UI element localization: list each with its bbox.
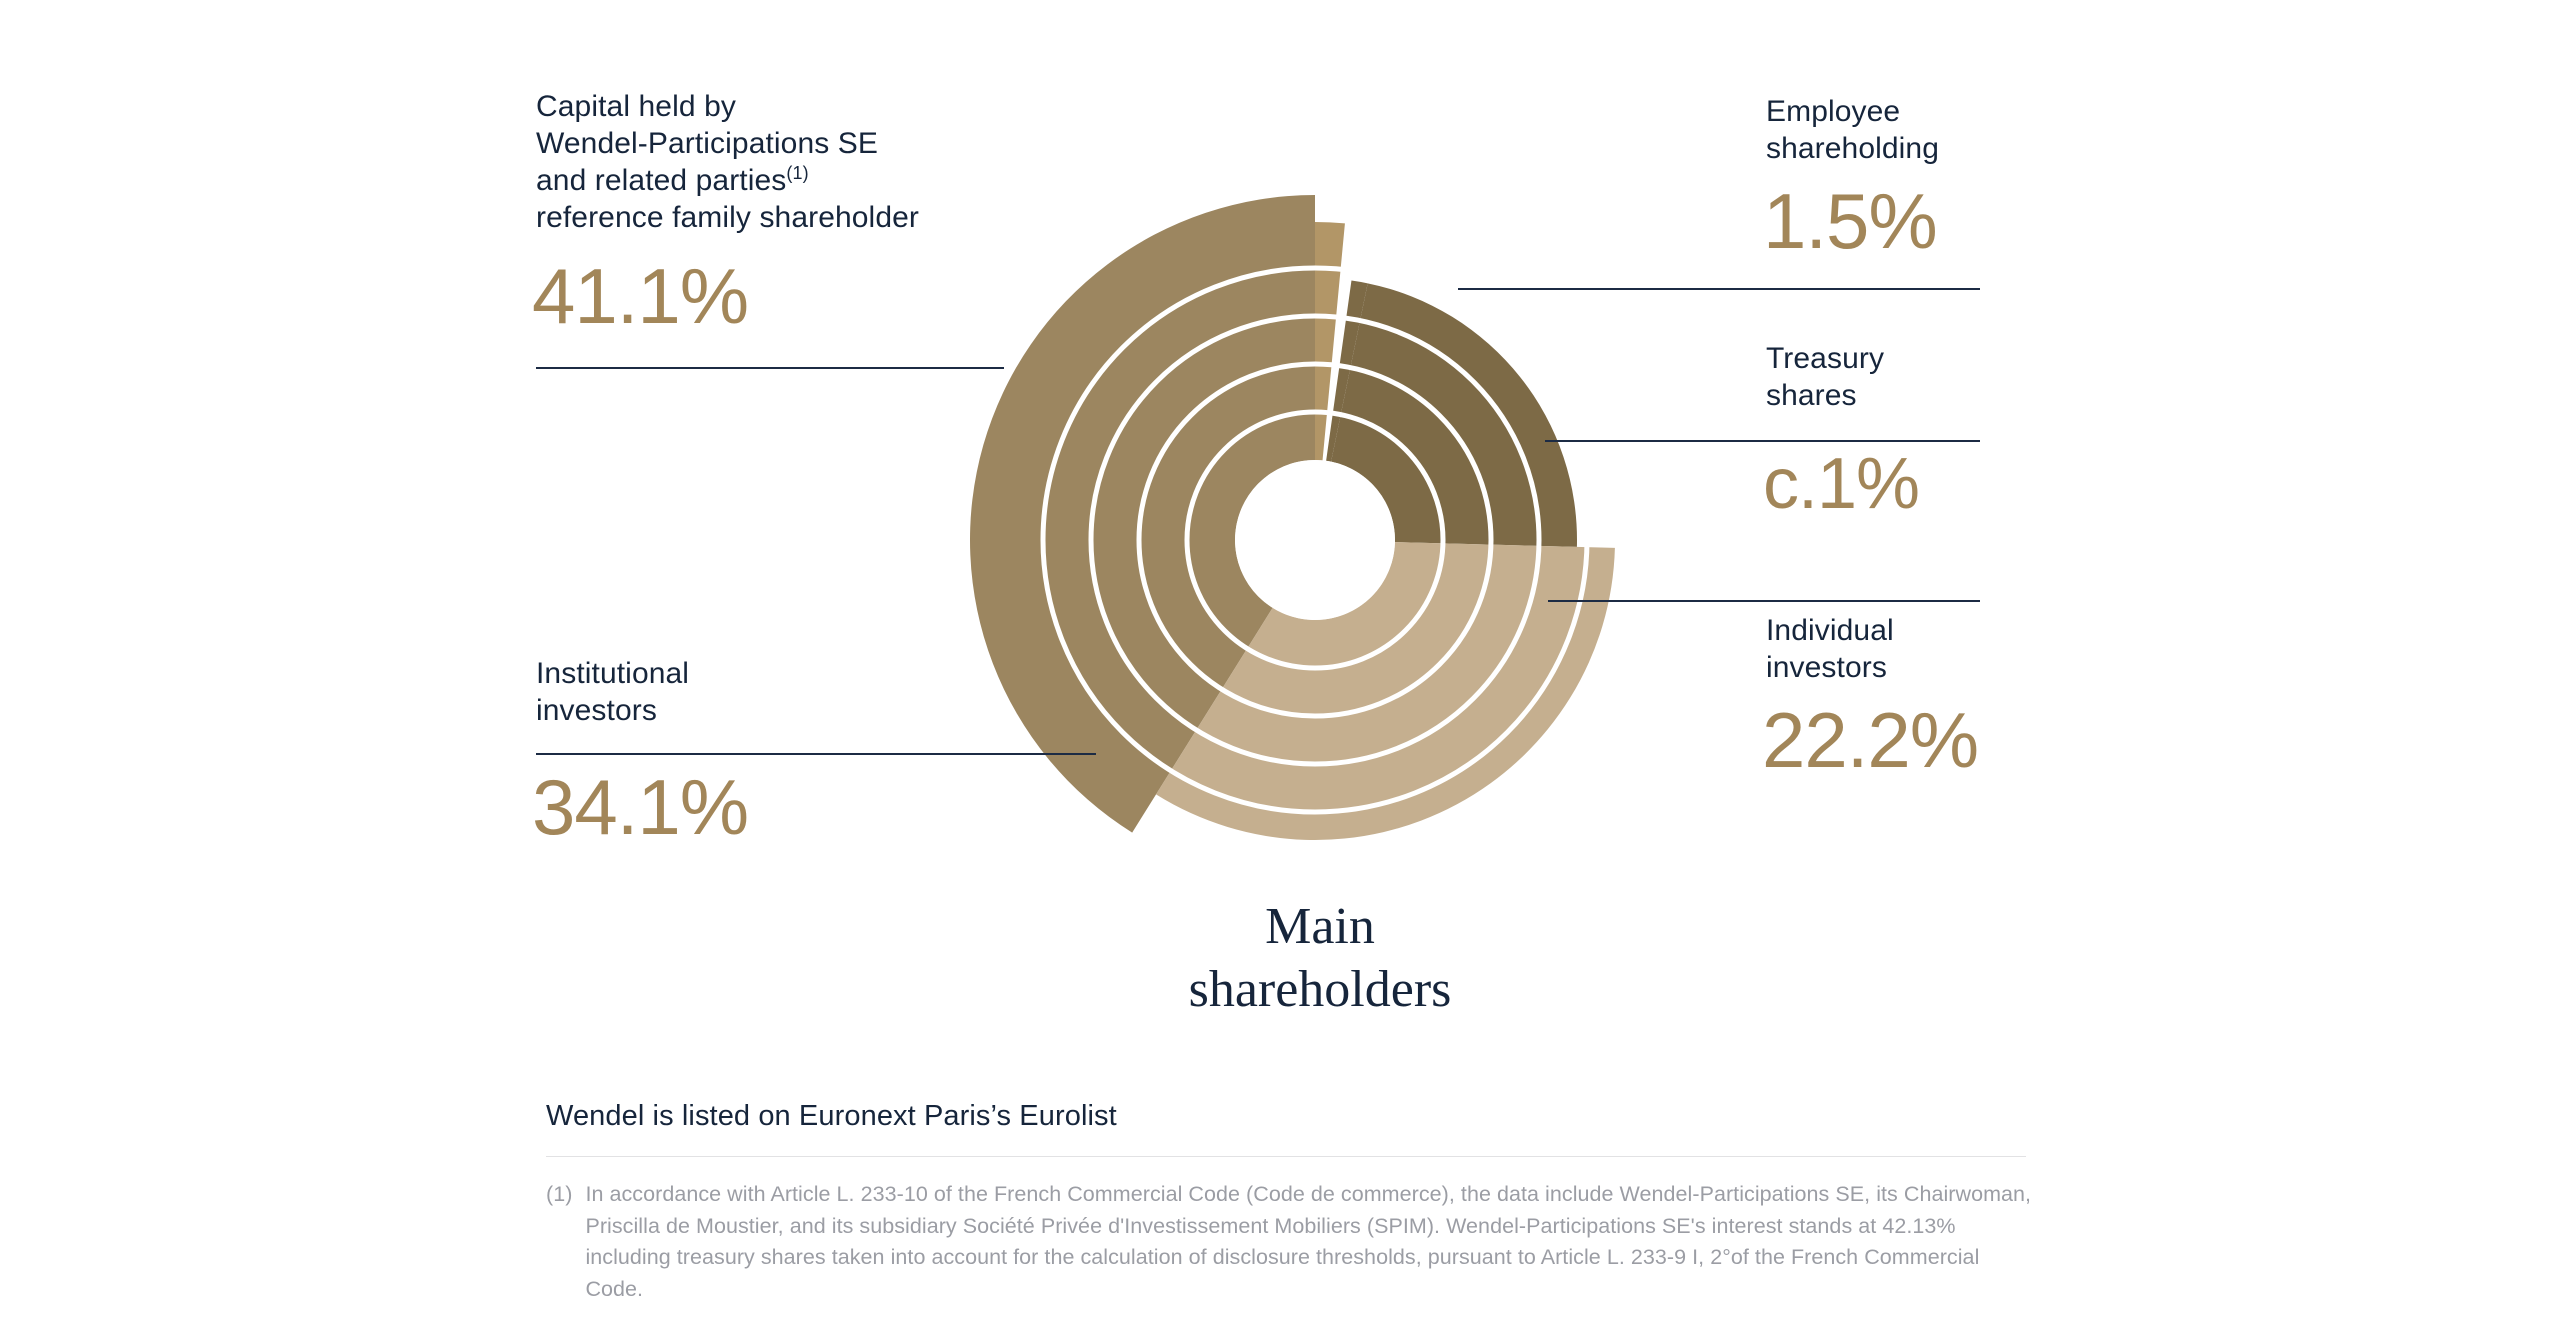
footnote-marker: (1) (546, 1179, 572, 1305)
leader-line-family (536, 367, 1004, 369)
callout-employee-label: Employee shareholding (1766, 93, 2186, 167)
callout-institutional-investors: Institutional investors 34.1% (536, 655, 1096, 849)
listing-note: Wendel is listed on Euronext Paris’s Eur… (546, 1098, 2036, 1134)
callout-treasury-shares: Treasury shares c.1% (1766, 340, 2186, 526)
footnote-body: In accordance with Article L. 233-10 of … (585, 1179, 2036, 1305)
footnote-ref-1: (1) (786, 163, 808, 183)
callout-family-value: 41.1% (532, 254, 1176, 338)
footnote-1: (1) In accordance with Article L. 233-10… (546, 1179, 2036, 1305)
callout-individual-investors: Individual investors 22.2% (1766, 612, 2226, 782)
leader-line-employee (1458, 288, 1980, 290)
callout-family-shareholder: Capital held byWendel-Participations SEa… (536, 88, 1176, 338)
callout-institutional-value: 34.1% (532, 765, 1096, 849)
callout-institutional-label: Institutional investors (536, 655, 1096, 729)
callout-family-label: Capital held byWendel-Participations SEa… (536, 88, 1176, 236)
donut-center-hole (1235, 460, 1395, 620)
callout-individual-value: 22.2% (1762, 698, 2226, 782)
callout-treasury-value: c.1% (1763, 442, 2186, 526)
footer-divider (546, 1156, 2026, 1157)
leader-line-individual (1548, 600, 1980, 602)
footer-section: Wendel is listed on Euronext Paris’s Eur… (546, 1098, 2036, 1305)
callout-employee-value: 1.5% (1763, 179, 2186, 263)
callout-employee-shareholding: Employee shareholding 1.5% (1766, 93, 2186, 263)
callout-individual-label: Individual investors (1766, 612, 2226, 686)
shareholder-structure-infographic: Main shareholders Capital held byWendel-… (0, 0, 2560, 1344)
callout-treasury-label: Treasury shares (1766, 340, 2186, 414)
chart-center-title: Main shareholders (1040, 895, 1600, 1021)
